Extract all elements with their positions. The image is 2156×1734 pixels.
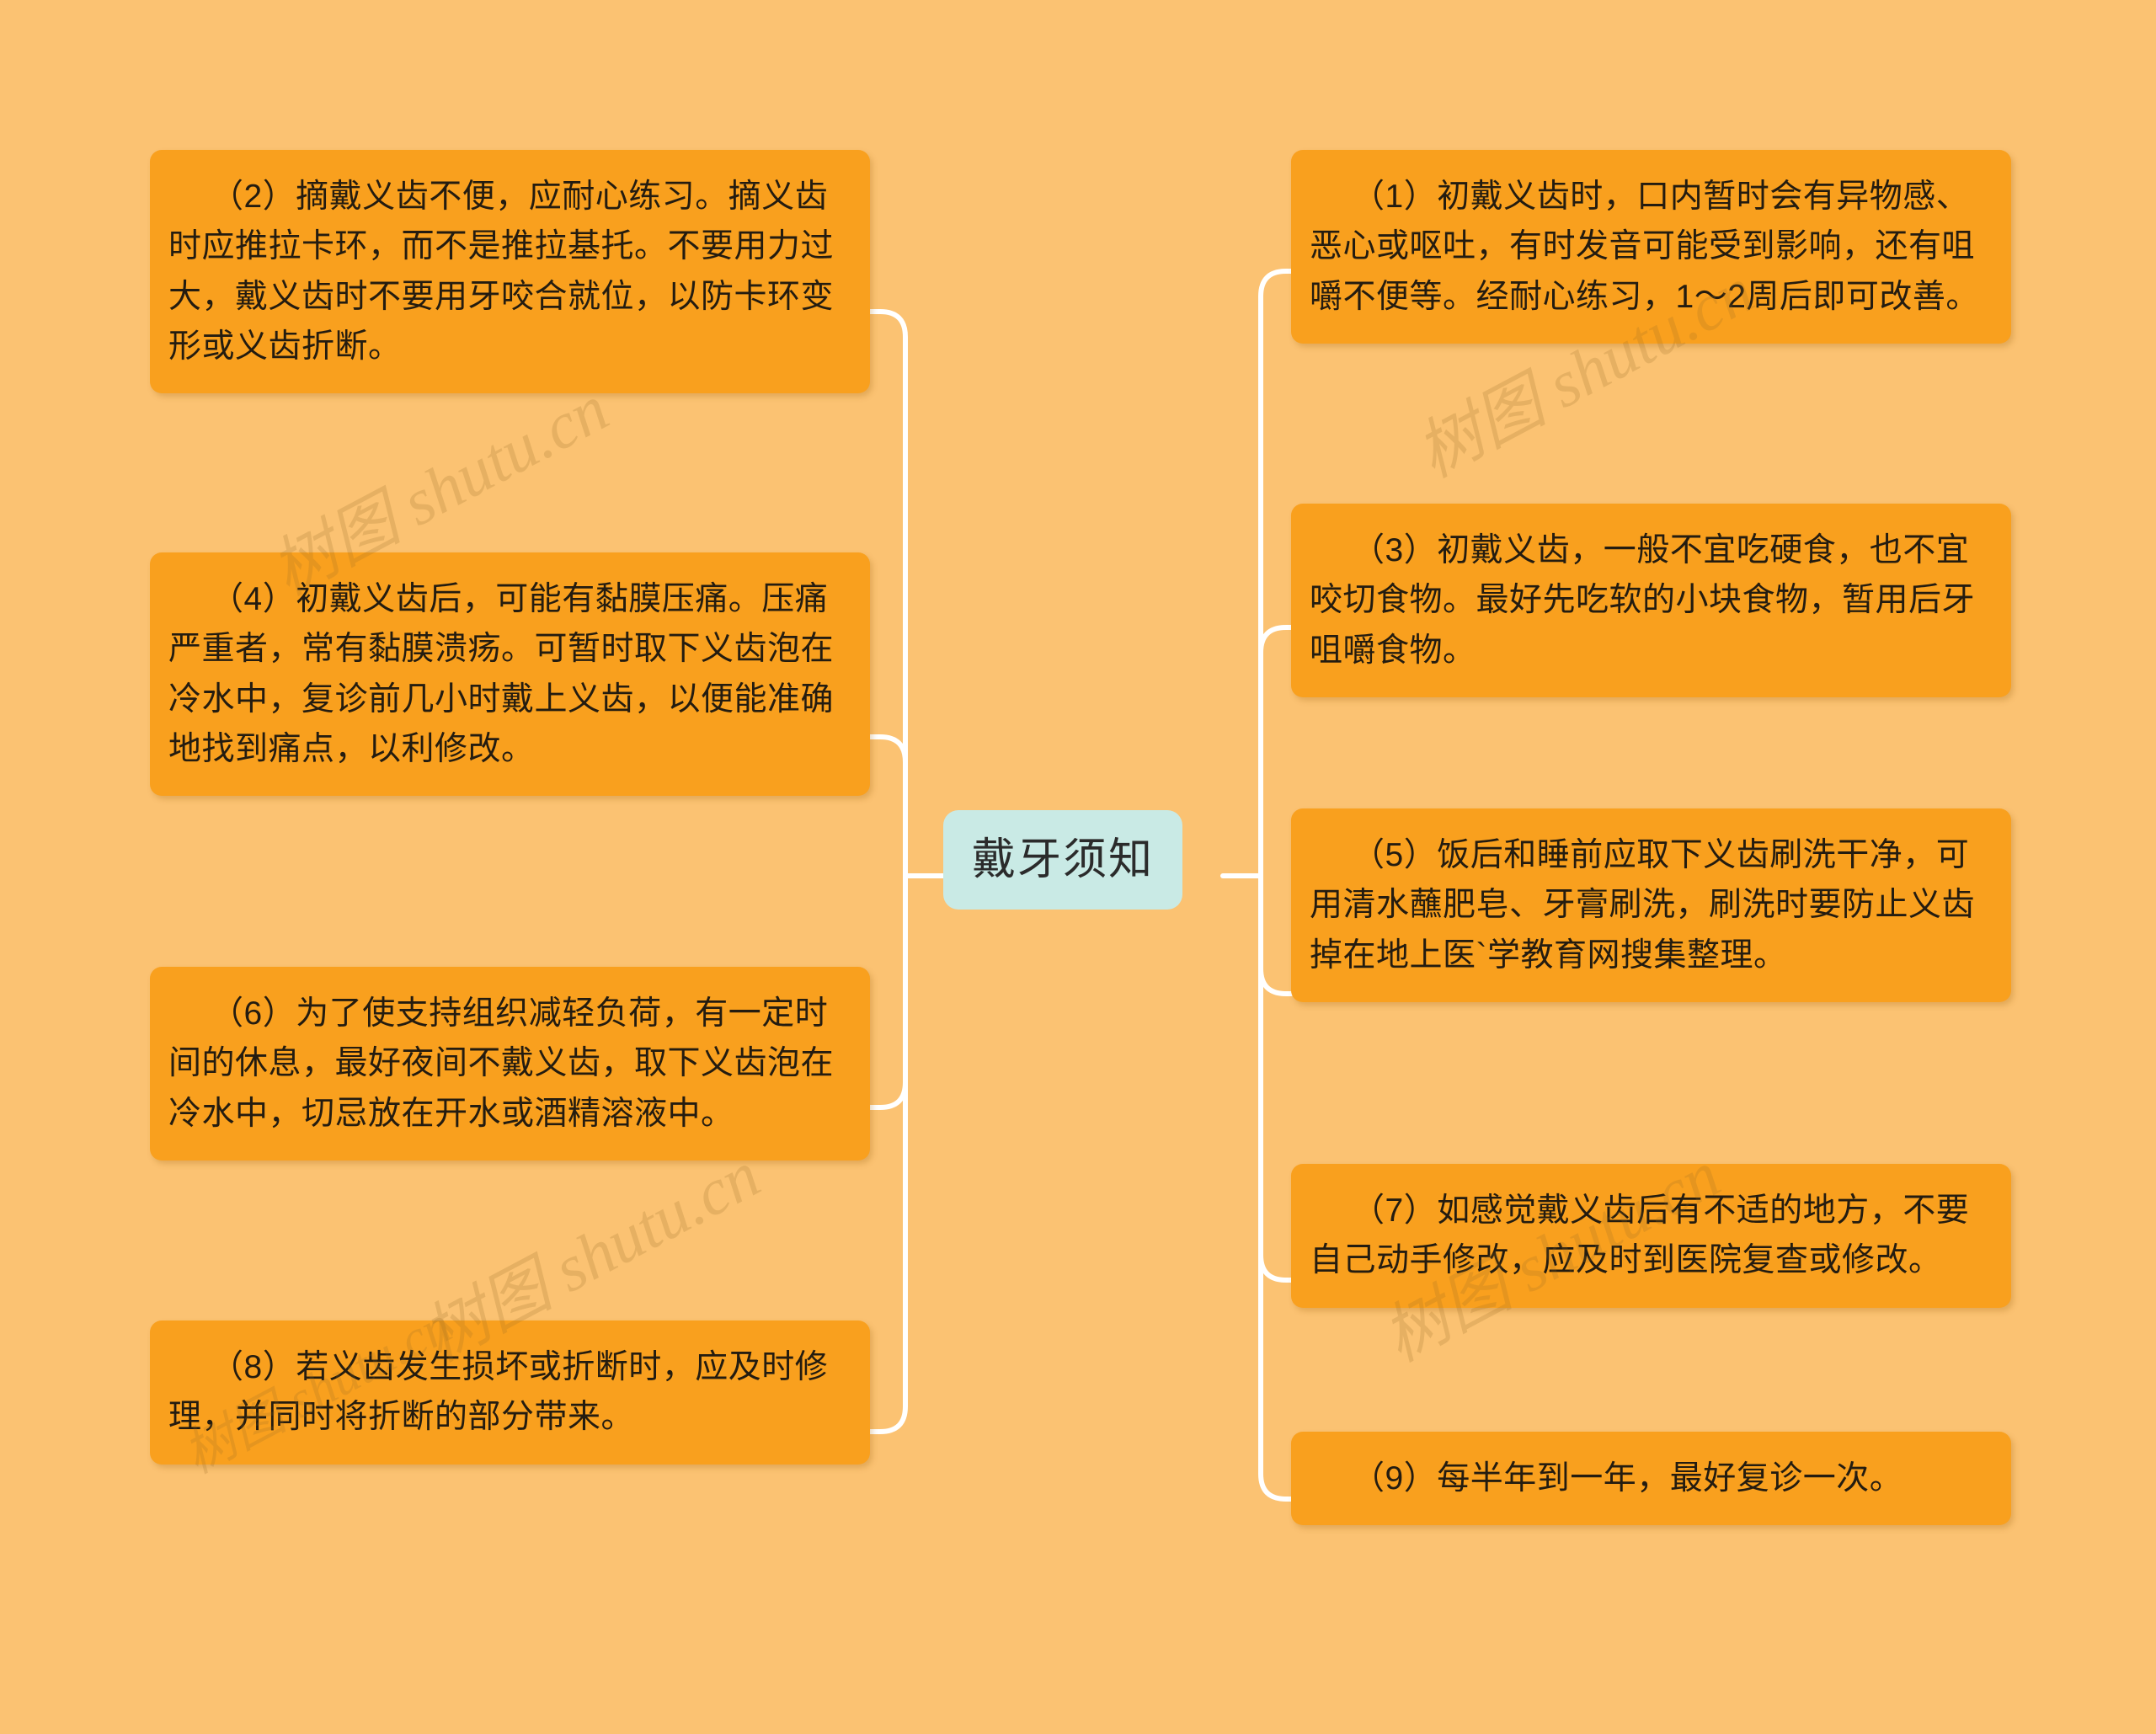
branch-node-5[interactable]: （5）饭后和睡前应取下义齿刷洗干净，可用清水蘸肥皂、牙膏刷洗，刷洗时要防止义齿掉… — [1291, 808, 2011, 1002]
connector-right-n7 — [1261, 876, 1291, 1280]
root-node[interactable]: 戴牙须知 — [943, 810, 1182, 910]
branch-node-3[interactable]: （3）初戴义齿，一般不宜吃硬食，也不宜咬切食物。最好先吃软的小块食物，暂用后牙咀… — [1291, 504, 2011, 697]
branch-node-9[interactable]: （9）每半年到一年，最好复诊一次。 — [1291, 1432, 2011, 1525]
connector-right-n9 — [1261, 876, 1291, 1499]
branch-node-8-text: （8）若义齿发生损坏或折断时，应及时修理，并同时将折断的部分带来。 — [168, 1342, 851, 1443]
connector-left-n4 — [870, 737, 905, 876]
branch-node-5-text: （5）饭后和睡前应取下义齿刷洗干净，可用清水蘸肥皂、牙膏刷洗，刷洗时要防止义齿掉… — [1310, 830, 1993, 980]
branch-node-6[interactable]: （6）为了使支持组织减轻负荷，有一定时间的休息，最好夜间不戴义齿，取下义齿泡在冷… — [150, 967, 870, 1160]
branch-node-1[interactable]: （1）初戴义齿时，口内暂时会有异物感、恶心或呕吐，有时发音可能受到影响，还有咀嚼… — [1291, 150, 2011, 344]
connector-right-n3 — [1261, 627, 1291, 876]
connector-left-n8 — [870, 876, 905, 1432]
branch-node-8[interactable]: （8）若义齿发生损坏或折断时，应及时修理，并同时将折断的部分带来。 — [150, 1321, 870, 1465]
root-node-label: 戴牙须知 — [972, 835, 1154, 884]
branch-node-7[interactable]: （7）如感觉戴义齿后有不适的地方，不要自己动手修改，应及时到医院复查或修改。 — [1291, 1164, 2011, 1308]
connector-right-n1 — [1261, 271, 1291, 876]
connector-right-n5 — [1261, 876, 1291, 994]
branch-node-2-text: （2）摘戴义齿不便，应耐心练习。摘义齿时应推拉卡环，而不是推拉基托。不要用力过大… — [168, 172, 851, 371]
connector-left-n6 — [870, 876, 905, 1107]
branch-node-4-text: （4）初戴义齿后，可能有黏膜压痛。压痛严重者，常有黏膜溃疡。可暂时取下义齿泡在冷… — [168, 574, 851, 774]
branch-node-9-text: （9）每半年到一年，最好复诊一次。 — [1310, 1454, 1993, 1503]
branch-node-1-text: （1）初戴义齿时，口内暂时会有异物感、恶心或呕吐，有时发音可能受到影响，还有咀嚼… — [1310, 172, 1993, 322]
connector-left-n2 — [870, 312, 905, 876]
branch-node-7-text: （7）如感觉戴义齿后有不适的地方，不要自己动手修改，应及时到医院复查或修改。 — [1310, 1186, 1993, 1286]
branch-node-3-text: （3）初戴义齿，一般不宜吃硬食，也不宜咬切食物。最好先吃软的小块食物，暂用后牙咀… — [1310, 526, 1993, 675]
branch-node-6-text: （6）为了使支持组织减轻负荷，有一定时间的休息，最好夜间不戴义齿，取下义齿泡在冷… — [168, 989, 851, 1139]
mindmap-canvas: （2）摘戴义齿不便，应耐心练习。摘义齿时应推拉卡环，而不是推拉基托。不要用力过大… — [0, 0, 2156, 1734]
branch-node-2[interactable]: （2）摘戴义齿不便，应耐心练习。摘义齿时应推拉卡环，而不是推拉基托。不要用力过大… — [150, 150, 870, 393]
branch-node-4[interactable]: （4）初戴义齿后，可能有黏膜压痛。压痛严重者，常有黏膜溃疡。可暂时取下义齿泡在冷… — [150, 552, 870, 796]
